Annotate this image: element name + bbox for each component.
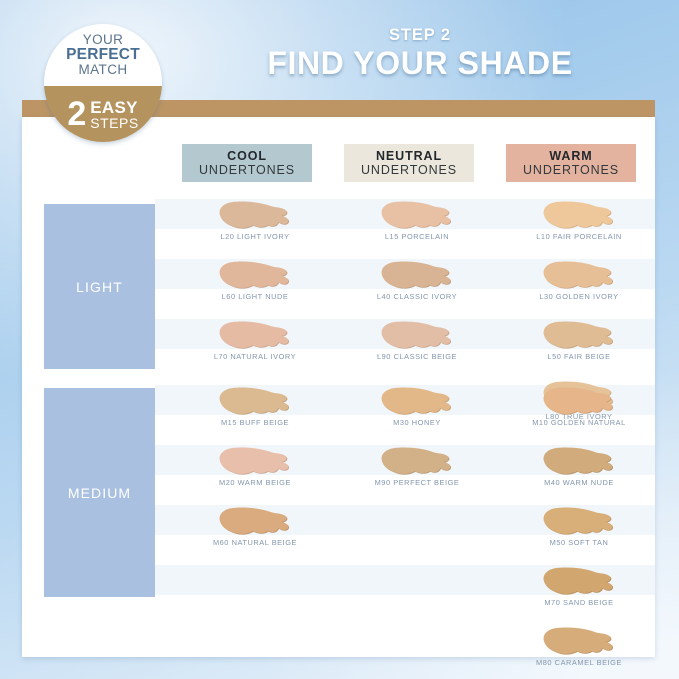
foundation-swatch-icon <box>540 447 618 477</box>
group-bar-light: LIGHT <box>44 204 155 369</box>
badge-line-match: MATCH <box>79 63 128 77</box>
shade-swatch-cell[interactable]: L50 FAIR BEIGE <box>494 321 664 367</box>
shade-name-label: M20 WARM BEIGE <box>170 478 340 487</box>
shade-swatch-cell[interactable]: M30 HONEY <box>332 387 502 433</box>
foundation-swatch-icon <box>540 321 618 351</box>
foundation-swatch-icon <box>540 567 618 597</box>
header-block: STEP 2 FIND YOUR SHADE <box>180 26 660 81</box>
shade-swatch-cell[interactable]: L30 GOLDEN IVORY <box>494 261 664 307</box>
shade-swatch-cell[interactable]: M80 CARAMEL BEIGE <box>494 627 664 673</box>
column-header-subtitle: UNDERTONES <box>199 163 295 177</box>
group-bar-label: MEDIUM <box>68 485 131 501</box>
shade-name-label: M70 SAND BEIGE <box>494 598 664 607</box>
foundation-swatch-icon <box>216 321 294 351</box>
column-header-cool: COOLUNDERTONES <box>182 144 312 182</box>
badge-bottom: 2 EASY STEPS <box>44 86 162 142</box>
shade-name-label: L90 CLASSIC BEIGE <box>332 352 502 361</box>
shade-name-label: L40 CLASSIC IVORY <box>332 292 502 301</box>
shade-swatch-cell[interactable]: L90 CLASSIC BEIGE <box>332 321 502 367</box>
shade-name-label: L60 LIGHT NUDE <box>170 292 340 301</box>
foundation-swatch-icon <box>540 507 618 537</box>
column-header-neutral: NEUTRALUNDERTONES <box>344 144 474 182</box>
perfect-match-badge: YOUR PERFECT MATCH 2 EASY STEPS <box>44 24 162 142</box>
group-bar-medium: MEDIUM <box>44 388 155 597</box>
group-bar-label: LIGHT <box>76 279 123 295</box>
shade-swatch-cell[interactable]: M15 BUFF BEIGE <box>170 387 340 433</box>
shade-name-label: M80 CARAMEL BEIGE <box>494 658 664 667</box>
shade-swatch-cell[interactable]: L40 CLASSIC IVORY <box>332 261 502 307</box>
page-title: FIND YOUR SHADE <box>180 47 660 81</box>
shade-swatch-cell[interactable]: M40 WARM NUDE <box>494 447 664 493</box>
foundation-swatch-icon <box>216 447 294 477</box>
shade-name-label: M15 BUFF BEIGE <box>170 418 340 427</box>
foundation-swatch-icon <box>540 627 618 657</box>
shade-name-label: M10 GOLDEN NATURAL <box>494 418 664 427</box>
shade-swatch-cell[interactable]: L70 NATURAL IVORY <box>170 321 340 367</box>
foundation-swatch-icon <box>216 201 294 231</box>
step-label: STEP 2 <box>180 26 660 44</box>
shade-name-label: M90 PERFECT BEIGE <box>332 478 502 487</box>
badge-word-steps: STEPS <box>90 116 138 130</box>
shade-swatch-cell[interactable]: L10 FAIR PORCELAIN <box>494 201 664 247</box>
shade-swatch-cell[interactable]: M90 PERFECT BEIGE <box>332 447 502 493</box>
shade-swatch-cell[interactable]: L20 LIGHT IVORY <box>170 201 340 247</box>
foundation-swatch-icon <box>378 261 456 291</box>
foundation-swatch-icon <box>540 201 618 231</box>
foundation-swatch-icon <box>216 387 294 417</box>
foundation-swatch-icon <box>378 447 456 477</box>
shade-name-label: L20 LIGHT IVORY <box>170 232 340 241</box>
column-header-title: WARM <box>549 149 592 163</box>
badge-line-perfect: PERFECT <box>66 47 140 63</box>
column-header-title: COOL <box>227 149 267 163</box>
shade-finder-poster: STEP 2 FIND YOUR SHADE YOUR PERFECT MATC… <box>0 0 679 679</box>
shade-name-label: M40 WARM NUDE <box>494 478 664 487</box>
column-header-title: NEUTRAL <box>376 149 442 163</box>
foundation-swatch-icon <box>540 387 618 417</box>
badge-step-number: 2 <box>67 97 86 131</box>
foundation-swatch-icon <box>540 261 618 291</box>
shade-swatch-cell[interactable]: M70 SAND BEIGE <box>494 567 664 613</box>
shade-swatch-cell[interactable]: M50 SOFT TAN <box>494 507 664 553</box>
foundation-swatch-icon <box>378 201 456 231</box>
foundation-swatch-icon <box>378 387 456 417</box>
shade-name-label: L30 GOLDEN IVORY <box>494 292 664 301</box>
shade-name-label: L70 NATURAL IVORY <box>170 352 340 361</box>
shade-swatch-cell[interactable]: L15 PORCELAIN <box>332 201 502 247</box>
badge-word-easy: EASY <box>90 99 138 116</box>
column-header-subtitle: UNDERTONES <box>523 163 619 177</box>
badge-top: YOUR PERFECT MATCH <box>44 24 162 86</box>
shade-name-label: L50 FAIR BEIGE <box>494 352 664 361</box>
shade-name-label: L15 PORCELAIN <box>332 232 502 241</box>
shade-name-label: M50 SOFT TAN <box>494 538 664 547</box>
shade-swatch-cell[interactable]: M60 NATURAL BEIGE <box>170 507 340 553</box>
badge-line-your: YOUR <box>83 33 124 47</box>
foundation-swatch-icon <box>216 261 294 291</box>
shade-swatch-cell[interactable]: M20 WARM BEIGE <box>170 447 340 493</box>
column-header-subtitle: UNDERTONES <box>361 163 457 177</box>
shade-swatch-cell[interactable]: L60 LIGHT NUDE <box>170 261 340 307</box>
foundation-swatch-icon <box>216 507 294 537</box>
shade-name-label: L10 FAIR PORCELAIN <box>494 232 664 241</box>
shade-swatch-cell[interactable]: M10 GOLDEN NATURAL <box>494 387 664 433</box>
shade-name-label: M60 NATURAL BEIGE <box>170 538 340 547</box>
shade-name-label: M30 HONEY <box>332 418 502 427</box>
foundation-swatch-icon <box>378 321 456 351</box>
badge-step-words: EASY STEPS <box>90 99 138 130</box>
column-header-warm: WARMUNDERTONES <box>506 144 636 182</box>
